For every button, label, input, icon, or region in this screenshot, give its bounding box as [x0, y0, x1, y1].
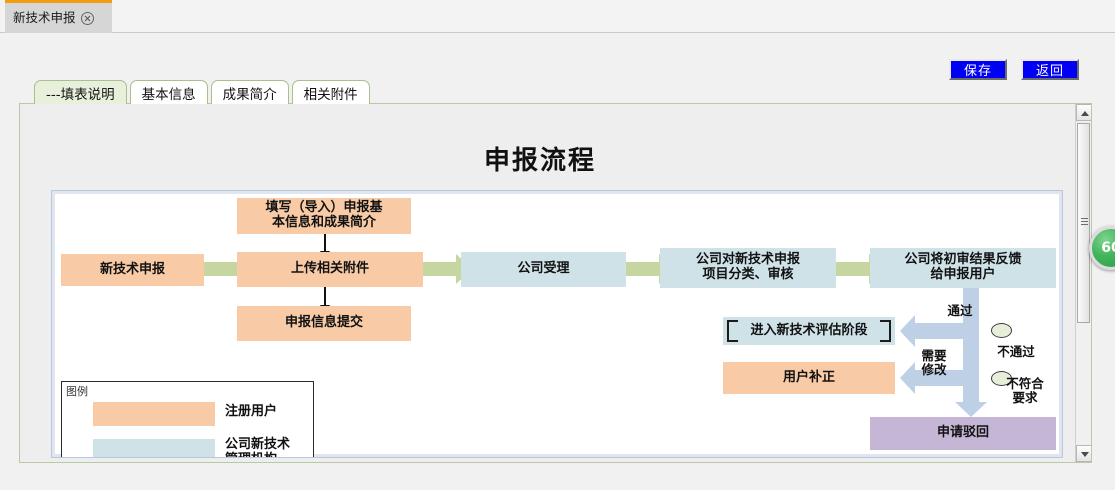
- arrow-black-down-2: [324, 287, 326, 306]
- label-not-meet-requirements: 不符合 要求: [992, 377, 1058, 406]
- label-fail: 不通过: [980, 345, 1052, 359]
- page-title: 申报流程: [20, 140, 1060, 177]
- legend-swatch-registered-user: [93, 402, 215, 426]
- legend-title: 图例: [66, 383, 88, 399]
- label-pass: 通过: [933, 304, 987, 318]
- node-company-accept: 公司受理: [461, 252, 626, 287]
- page-body: 保存 返回 ---填表说明 基本信息 成果简介 相关附件 申报流程 新技术申报 …: [0, 33, 1115, 490]
- triangle-up-icon: [1081, 111, 1089, 116]
- arrow-black-down-1: [324, 234, 326, 252]
- node-application-rejected: 申请驳回: [870, 417, 1056, 450]
- scroll-up-button[interactable]: [1076, 104, 1092, 121]
- node-submit-application-info: 申报信息提交: [237, 306, 411, 341]
- label-need-revision: 需要 修改: [907, 349, 961, 378]
- tab-achievement-summary[interactable]: 成果简介: [211, 80, 289, 104]
- back-button[interactable]: 返回: [1021, 59, 1079, 80]
- tab-fill-instructions[interactable]: ---填表说明: [34, 80, 127, 104]
- decision-circle-1: [991, 323, 1012, 338]
- legend-box: 图例 注册用户 公司新技术 管理机构: [61, 381, 314, 458]
- scroll-down-button[interactable]: [1076, 445, 1092, 462]
- triangle-down-icon: [1081, 452, 1089, 457]
- flowchart-canvas: 新技术申报 填写（导入）申报基 本信息和成果简介 上传相关附件 申报信息提交 公…: [51, 190, 1063, 458]
- arrow-blue-left-pass: [914, 323, 970, 339]
- legend-swatch-company-org: [93, 439, 215, 458]
- node-classify-review: 公司对新技术申报 项目分类、审核: [660, 248, 836, 288]
- legend-label-registered-user: 注册用户: [225, 405, 277, 420]
- arrow-green-1: [204, 262, 238, 276]
- page-inner: 保存 返回 ---填表说明 基本信息 成果简介 相关附件 申报流程 新技术申报 …: [14, 33, 1101, 490]
- tab-attachments[interactable]: 相关附件: [292, 80, 370, 104]
- tab-basic-info[interactable]: 基本信息: [130, 80, 208, 104]
- arrow-green-3: [626, 262, 660, 276]
- content-panel: 申报流程 新技术申报 填写（导入）申报基 本信息和成果简介 上传相关附件 申报信…: [19, 103, 1092, 463]
- save-button[interactable]: 保存: [949, 59, 1007, 80]
- grip-icon: [1081, 218, 1088, 219]
- arrow-green-2: [423, 262, 457, 276]
- node-enter-evaluation-stage: 进入新技术评估阶段: [723, 317, 895, 345]
- arrow-green-4: [836, 262, 870, 276]
- form-tab-bar: ---填表说明 基本信息 成果简介 相关附件: [34, 80, 370, 104]
- browser-tab-title: 新技术申报: [13, 12, 76, 25]
- scrollbar-thumb[interactable]: [1077, 123, 1090, 323]
- vertical-scrollbar[interactable]: [1075, 104, 1091, 462]
- browser-tab-strip: 新技术申报: [0, 0, 1115, 33]
- close-icon[interactable]: [81, 12, 94, 25]
- node-user-supplement: 用户补正: [723, 362, 895, 394]
- node-upload-attachments: 上传相关附件: [237, 252, 423, 287]
- tab-strip-background: [0, 0, 1115, 33]
- node-feedback-to-user: 公司将初审结果反馈 给申报用户: [870, 248, 1056, 288]
- browser-tab-xinjishu-shenbao[interactable]: 新技术申报: [5, 0, 112, 33]
- legend-label-company-org: 公司新技术 管理机构: [225, 438, 290, 458]
- node-fill-basic-info: 填写（导入）申报基 本信息和成果简介: [237, 198, 411, 234]
- node-new-tech-application: 新技术申报: [61, 254, 204, 286]
